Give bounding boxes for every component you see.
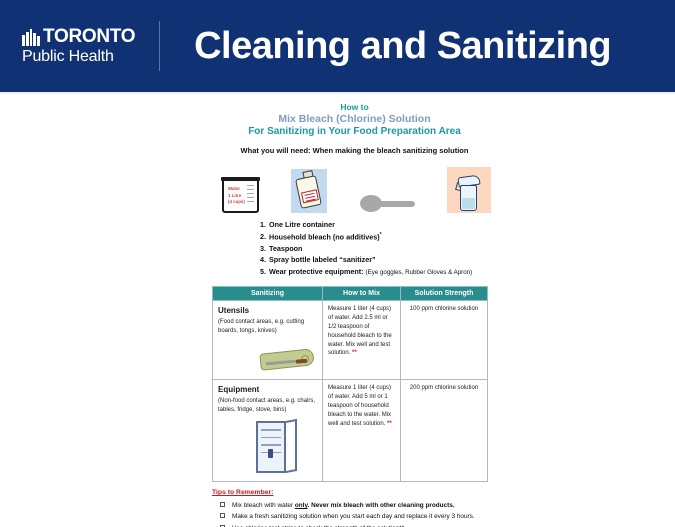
cell-category-utensils: Utensils (Food contact areas, e.g. cutti… — [213, 301, 323, 380]
slide-title: Cleaning and Sanitizing — [160, 25, 675, 68]
category-title: Utensils — [218, 305, 317, 317]
list-item-text: One Litre container — [269, 220, 335, 229]
logo-public-health-text: Public Health — [22, 49, 135, 65]
table-row: Equipment (Non-food contact areas, e.g. … — [213, 380, 488, 482]
spray-bottle-icon — [447, 167, 491, 213]
sanitizing-table: Sanitizing How to Mix Solution Strength … — [212, 286, 488, 482]
cell-strength-utensils: 100 ppm chlorine solution — [401, 301, 488, 380]
list-item: 3.Teaspoon — [260, 243, 497, 255]
column-header-solution-strength: Solution Strength — [401, 287, 488, 301]
list-item-text: Wear protective equipment: — [269, 267, 364, 276]
cell-mix-utensils: Measure 1 liter (4 cups) of water. Add 2… — [323, 301, 401, 380]
teaspoon-icon — [360, 195, 415, 213]
list-item: 5.Wear protective equipment: (Eye goggle… — [260, 266, 497, 278]
column-header-how-to-mix: How to Mix — [323, 287, 401, 301]
list-item: 4.Spray bottle labeled “sanitizer” — [260, 254, 497, 266]
list-item: Use chlorine test strips to check the st… — [220, 523, 497, 527]
list-item: Mix bleach with water only. Never mix bl… — [220, 500, 497, 511]
mix-instructions: Measure 1 liter (4 cups) of water. Add 5… — [328, 385, 391, 427]
measuring-container-icon: Water1 Litre(4 cups) — [222, 181, 259, 213]
tip-bold: . Never mix bleach with other cleaning p… — [308, 502, 455, 509]
bleach-bottle-icon — [291, 169, 327, 213]
supplies-icon-row: Water1 Litre(4 cups) — [212, 165, 497, 213]
checkbox-icon — [220, 513, 225, 518]
category-subtitle: (Non-food contact areas, e.g. chairs, ta… — [218, 397, 317, 415]
slide-header: TORONTO Public Health Cleaning and Sanit… — [0, 0, 675, 92]
list-item-text: Spray bottle labeled “sanitizer” — [269, 255, 376, 264]
mix-footnote-marker: ** — [352, 350, 357, 356]
tips-list: Mix bleach with water only. Never mix bl… — [212, 500, 497, 527]
tip-text: Make a fresh sanitizing solution when yo… — [232, 513, 475, 520]
list-item-text: Household bleach (no additives) — [269, 232, 380, 241]
flyer-title-how: How to — [212, 102, 497, 112]
flyer: How to Mix Bleach (Chlorine) Solution Fo… — [212, 102, 497, 527]
cell-strength-equipment: 200 ppm chlorine solution — [401, 380, 488, 482]
toronto-public-health-logo: TORONTO Public Health — [22, 27, 135, 65]
category-title: Equipment — [218, 384, 317, 396]
document-area: How to Mix Bleach (Chlorine) Solution Fo… — [0, 94, 675, 527]
cell-mix-equipment: Measure 1 liter (4 cups) of water. Add 5… — [323, 380, 401, 482]
list-item: 2.Household bleach (no additives)* — [260, 231, 497, 243]
list-item-text: Teaspoon — [269, 244, 302, 253]
list-item: 1.One Litre container — [260, 219, 497, 231]
column-header-sanitizing: Sanitizing — [213, 287, 323, 301]
tip-emphasis: only — [295, 502, 308, 509]
list-item: Make a fresh sanitizing solution when yo… — [220, 511, 497, 522]
cutting-board-icon — [218, 341, 317, 375]
checkbox-icon — [220, 502, 225, 507]
mix-instructions: Measure 1 liter (4 cups) of water. Add 2… — [328, 306, 392, 356]
cell-category-equipment: Equipment (Non-food contact areas, e.g. … — [213, 380, 323, 482]
mix-footnote-marker: ** — [387, 421, 392, 427]
tip-text: Mix bleach with water — [232, 502, 295, 509]
logo-toronto-text: TORONTO — [43, 27, 135, 46]
flyer-title-mix: Mix Bleach (Chlorine) Solution — [212, 113, 497, 125]
tips-heading: Tips to Remember: — [212, 489, 497, 496]
toronto-city-hall-icon — [22, 29, 40, 46]
fridge-icon — [218, 419, 317, 477]
supplies-list: 1.One Litre container 2.Household bleach… — [212, 219, 497, 278]
category-subtitle: (Food contact areas, e.g. cutting boards… — [218, 318, 317, 336]
list-item-paren: (Eye goggles, Rubber Gloves & Apron) — [366, 269, 473, 276]
flyer-title-for: For Sanitizing in Your Food Preparation … — [212, 126, 497, 137]
table-header-row: Sanitizing How to Mix Solution Strength — [213, 287, 488, 301]
table-row: Utensils (Food contact areas, e.g. cutti… — [213, 301, 488, 380]
flyer-need-intro: What you will need: When making the blea… — [212, 146, 497, 155]
